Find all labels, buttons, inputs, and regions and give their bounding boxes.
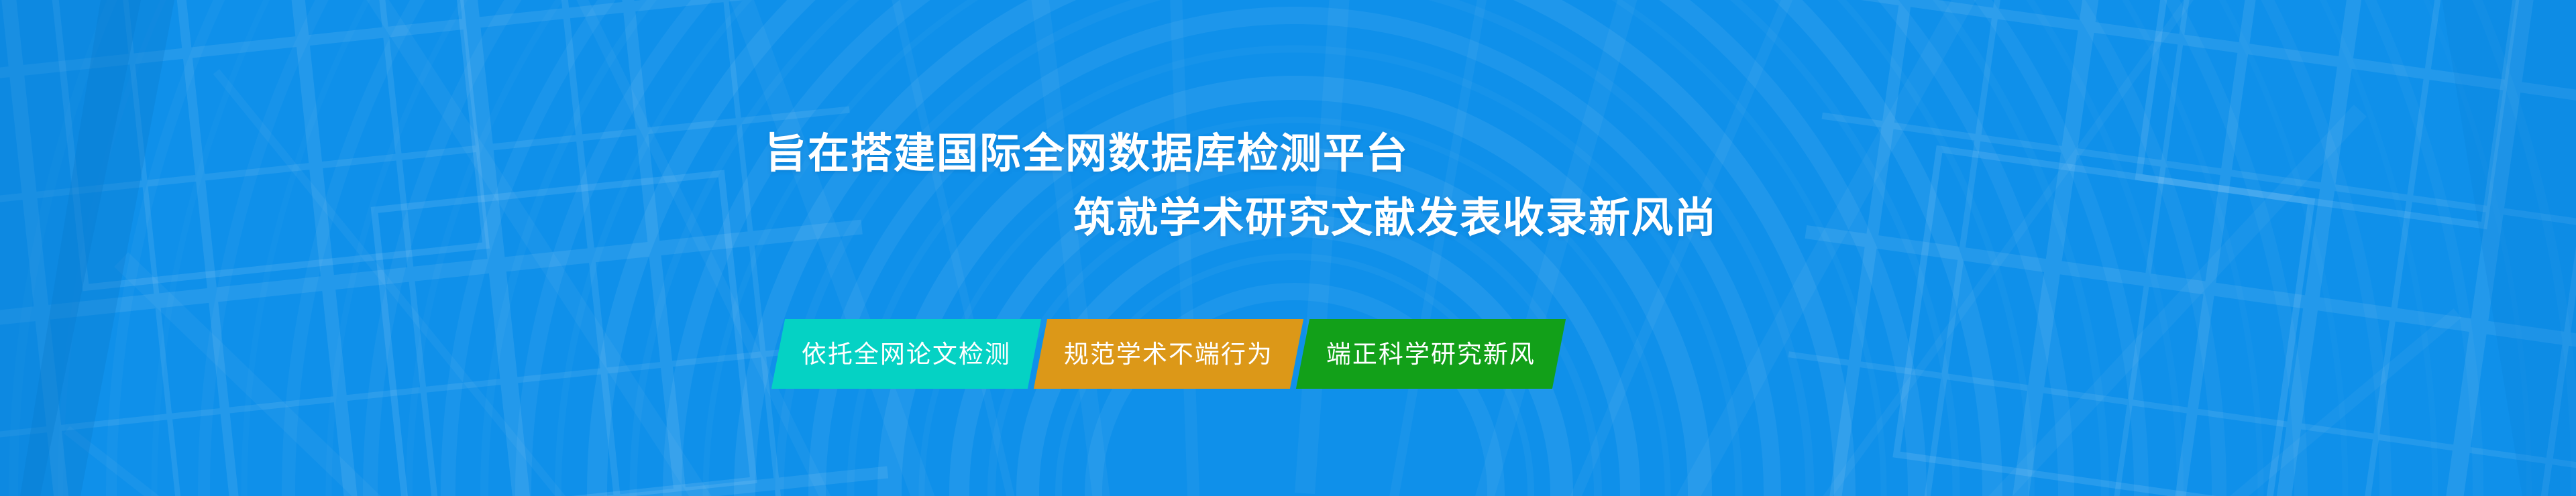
feature-tag-2-label: 规范学术不端行为: [1064, 342, 1273, 367]
headline-line-2: 筑就学术研究文献发表收录新风尚: [1073, 186, 2576, 251]
feature-tag-3-label: 端正科学研究新风: [1326, 342, 1536, 367]
feature-tag-strip: 依托全网论文检测 规范学术不端行为 端正科学研究新风: [778, 319, 1559, 389]
feature-tag-1-label: 依托全网论文检测: [802, 342, 1011, 367]
feature-tag-1[interactable]: 依托全网论文检测: [771, 319, 1041, 389]
promo-banner: 旨在搭建国际全网数据库检测平台 筑就学术研究文献发表收录新风尚 依托全网论文检测…: [0, 0, 2576, 496]
feature-tag-2[interactable]: 规范学术不端行为: [1034, 319, 1303, 389]
headline-block: 旨在搭建国际全网数据库检测平台 筑就学术研究文献发表收录新风尚: [0, 122, 2576, 251]
feature-tag-3[interactable]: 端正科学研究新风: [1296, 319, 1566, 389]
headline-line-1: 旨在搭建国际全网数据库检测平台: [765, 122, 2576, 186]
